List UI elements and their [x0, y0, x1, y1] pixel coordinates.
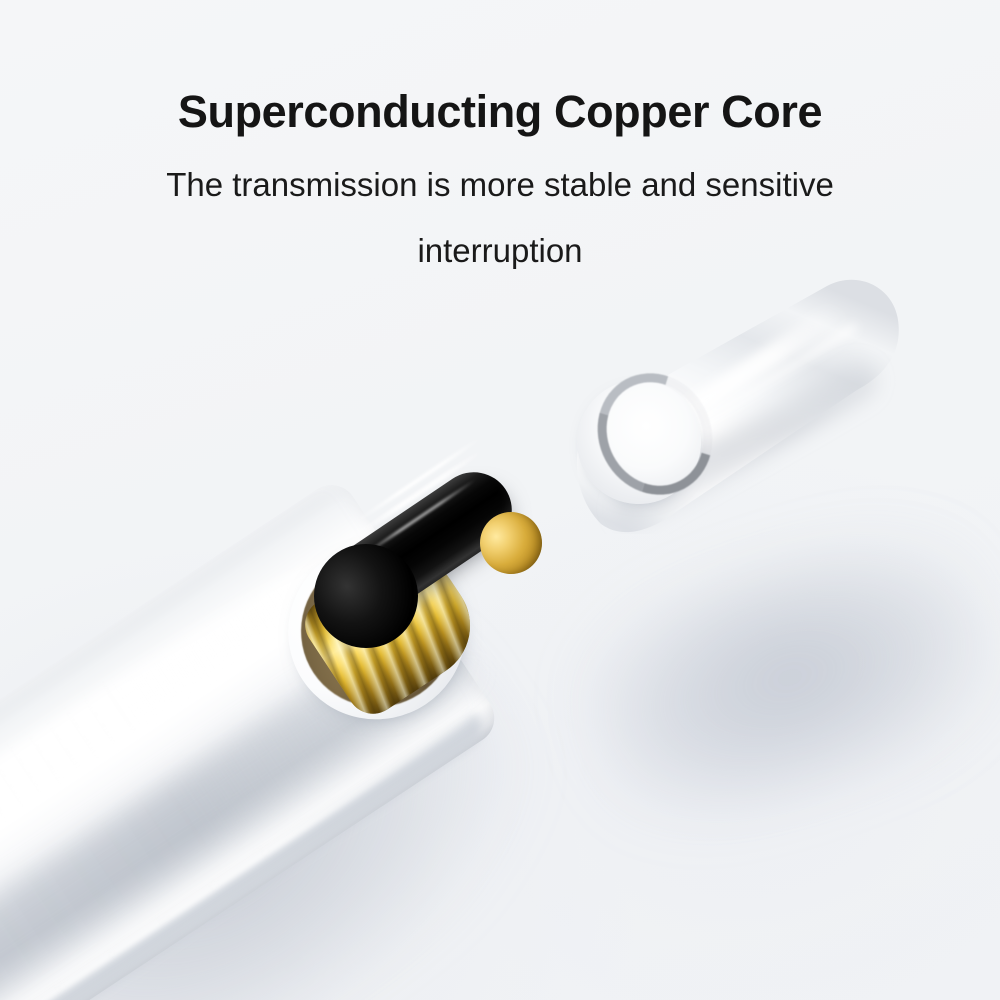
- subtitle-line-2: interruption: [0, 234, 1000, 267]
- page-title: Superconducting Copper Core: [0, 88, 1000, 136]
- marketing-copy: Superconducting Copper Core The transmis…: [0, 88, 1000, 267]
- product-marketing-image: Superconducting Copper Core The transmis…: [0, 0, 1000, 1000]
- stylus-core-shaft: [330, 506, 545, 666]
- subtitle-line-1: The transmission is more stable and sens…: [0, 168, 1000, 201]
- detached-pen-cap: [565, 272, 905, 534]
